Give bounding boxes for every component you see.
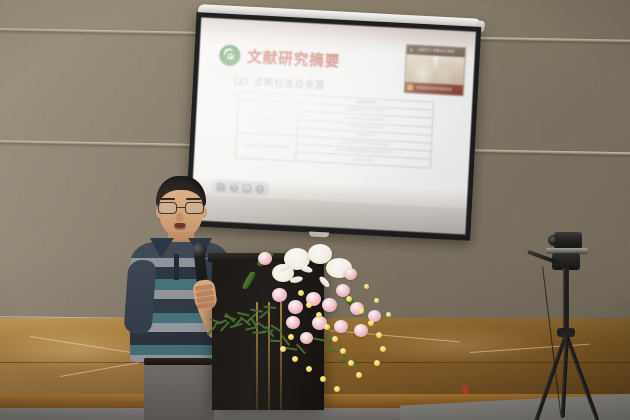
video-camera-tripod [528,232,614,420]
slide-subtitle: （2）诊断标准及来源 [228,73,325,92]
shirt-placket [174,254,179,280]
pink-rose [354,324,368,337]
slide-inset-video: 文献研究·摘要演示视频 中医药科研学术报告会 [404,44,466,96]
camera-lens-icon [548,235,559,246]
speaker-brow-right [186,198,201,200]
pink-rose [334,320,348,333]
lens-right [185,202,204,214]
slide-title: 文献研究摘要 [247,46,341,72]
speaker-arm-left [123,259,156,335]
table-cell-label: 中医标准 / 中西医结合诊断标准 [236,133,298,161]
tripod-leg [564,333,599,420]
pink-rose [258,252,272,265]
pink-rose [288,300,303,314]
pink-rose [322,298,337,312]
slide-table: 名称 诊断标准出处 西医标准 《诸病源候论新编诊疗标准》 《实用中医内科学诊断标… [235,91,434,168]
inset-bottom-caption: 中医药科研学术报告会 [405,82,463,95]
speaker-mouth-open [174,223,186,230]
institute-emblem-icon: 中 [219,44,241,66]
slide-table-body: 名称 诊断标准出处 西医标准 《诸病源候论新编诊疗标准》 《实用中医内科学诊断标… [236,92,434,168]
slide-header: 中 文献研究摘要 [219,44,341,71]
next-slide-icon[interactable]: › [255,184,264,193]
pink-rose [286,316,300,329]
pink-rose [272,288,287,302]
conference-presentation-photo: 中 文献研究摘要 （2）诊断标准及来源 名称 诊断标准出处 西医标准 《 [0,0,630,420]
microphone-head-icon [191,242,206,257]
glasses-bridge [177,207,185,208]
recording-dot-icon [410,48,413,51]
tripod-center-column [563,268,569,332]
speaker-hand-right [192,279,218,312]
speaker-brow-left [160,198,175,200]
emblem-character: 中 [226,52,233,59]
speaker-nose [176,213,183,222]
speaker-trousers [144,362,214,420]
screen-bottom-weight [309,231,329,237]
pink-rose [300,332,313,344]
floral-arrangement [228,240,408,400]
foliage-leaf [241,270,256,290]
speaker-belt [144,358,212,365]
table-cell-label: 西医标准 [237,100,299,136]
pink-rose [344,268,357,280]
inset-badge-icon [407,84,413,90]
lens-left [158,202,177,214]
menu-icon[interactable]: ▤ [242,183,251,192]
